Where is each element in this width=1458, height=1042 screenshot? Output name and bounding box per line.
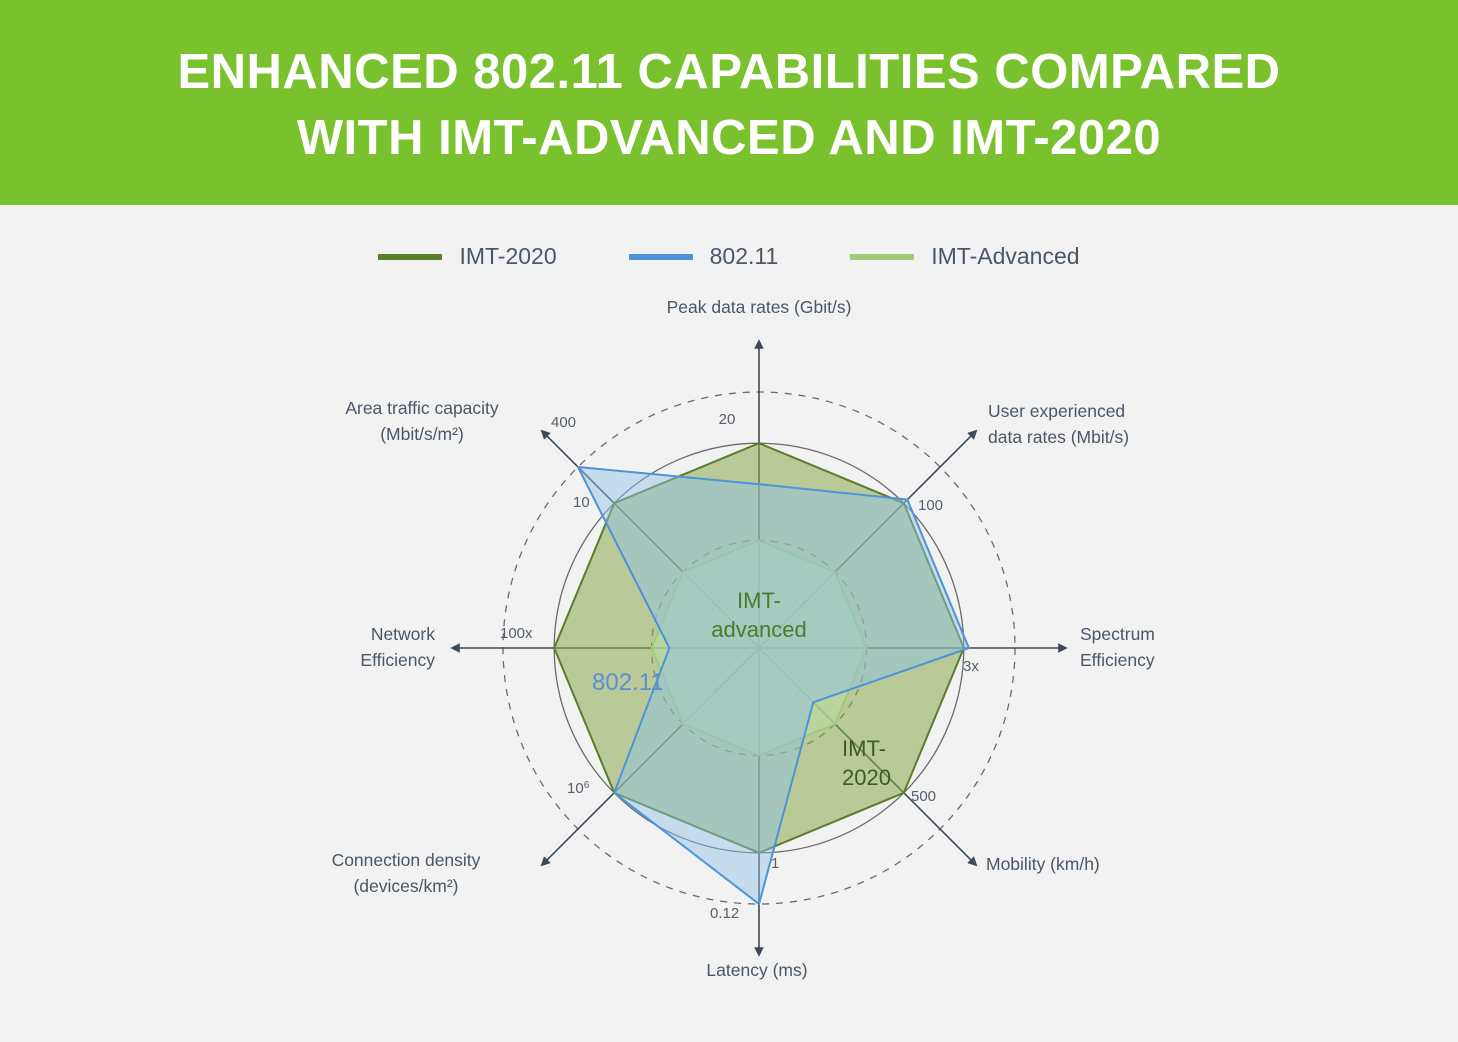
title-banner: ENHANCED 802.11 CAPABILITIES COMPARED WI… xyxy=(0,0,1458,205)
tick-label-peak-data-rates: 20 xyxy=(719,411,736,428)
axis-label-network-efficiency-line2: Efficiency xyxy=(360,650,435,670)
series-annotation-imt-2020-line1: IMT- xyxy=(842,736,886,761)
series-annotation-802-11: 802.11 xyxy=(592,669,664,696)
slide-root: ENHANCED 802.11 CAPABILITIES COMPARED WI… xyxy=(0,0,1458,1042)
tick-label-network-efficiency: 100x xyxy=(500,625,533,642)
axis-label-area-traffic-capacity-line2: (Mbit/s/m²) xyxy=(380,424,464,444)
series-annotation-imt-advanced-line2: advanced xyxy=(711,617,806,642)
tick-label-connection-density: 106 xyxy=(567,780,590,797)
radar-chart-svg: Peak data rates (Gbit/s) User experience… xyxy=(0,205,1458,1042)
axis-label-latency: Latency (ms) xyxy=(706,960,807,980)
axis-label-area-traffic-capacity-line1: Area traffic capacity xyxy=(345,398,499,418)
tick-label-latency: 1 xyxy=(771,855,779,872)
axis-label-spectrum-efficiency-line1: Spectrum xyxy=(1080,624,1155,644)
outer-tick-label-latency: 0.12 xyxy=(710,905,739,922)
outer-tick-label-area-traffic-capacity: 10 xyxy=(573,494,590,511)
axis-label-user-experienced-data-rates-line2: data rates (Mbit/s) xyxy=(988,427,1129,447)
series-annotation-imt-2020-line2: 2020 xyxy=(842,765,891,790)
series-annotation-imt-advanced-line1: IMT- xyxy=(737,588,781,613)
axis-label-connection-density-line1: Connection density xyxy=(332,850,481,870)
axis-label-network-efficiency-line1: Network xyxy=(371,624,435,644)
tick-label-user-experienced-data-rates: 100 xyxy=(918,497,943,514)
tick-label-mobility: 500 xyxy=(911,788,936,805)
axis-label-spectrum-efficiency-line2: Efficiency xyxy=(1080,650,1155,670)
axis-label-user-experienced-data-rates-line1: User experienced xyxy=(988,401,1125,421)
tick-label-spectrum-efficiency: 3x xyxy=(963,658,979,675)
page-title-line-1: ENHANCED 802.11 CAPABILITIES COMPARED xyxy=(177,40,1280,105)
radar-chart: Peak data rates (Gbit/s) User experience… xyxy=(0,205,1458,1042)
axis-label-peak-data-rates: Peak data rates (Gbit/s) xyxy=(667,297,852,317)
axis-label-mobility: Mobility (km/h) xyxy=(986,854,1100,874)
tick-label-area-traffic-capacity: 400 xyxy=(551,414,576,431)
page-title-line-2: WITH IMT-ADVANCED AND IMT-2020 xyxy=(297,106,1161,171)
axis-label-connection-density-line2: (devices/km²) xyxy=(353,876,458,896)
